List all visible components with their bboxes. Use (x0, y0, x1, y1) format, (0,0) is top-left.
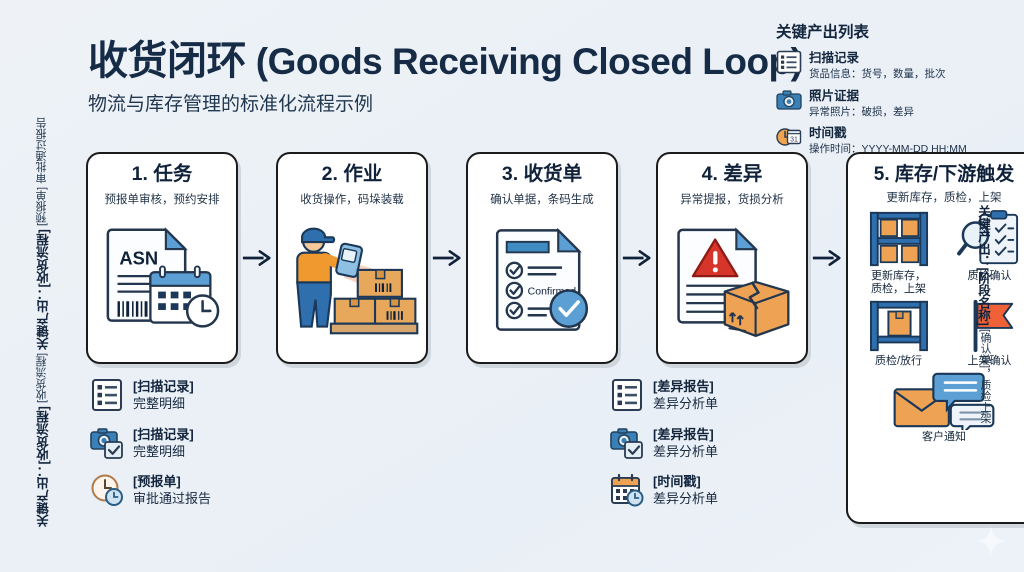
flow-step-title: 5. 库存/下游触发 (874, 164, 1014, 185)
svg-text:31: 31 (790, 137, 798, 144)
output-item-name: [差异报告] (653, 379, 718, 395)
left-rail-top: 关键产出：[收货流程] [预报单] 审批通过报告 (34, 200, 78, 350)
card5-cell-inventory[interactable]: 更新库存，质检，上架 (855, 209, 943, 296)
output-item: [差异报告] 差异分析单 (610, 426, 718, 461)
svg-text:ASN: ASN (119, 248, 158, 269)
card5-cell-qc-release[interactable]: 质检/放行 (855, 298, 943, 368)
flow-step-title: 4. 差异 (702, 164, 763, 186)
left-rail-bottom-sub: [收货流程] (34, 353, 53, 403)
output-item-desc: 差异分析单 (653, 444, 718, 460)
flow-step-title: 1. 任务 (132, 164, 193, 186)
output-item: [时间戳] 差异分析单 (610, 473, 718, 508)
right-rail-title: 关键产出：[阶段名称] (974, 205, 993, 326)
flow-arrow-3 (618, 152, 656, 364)
right-rail-sub: [确认单]，质检上架 (974, 329, 993, 423)
left-rail-bottom: 关键产出：[收货流程] [收货流程] (34, 372, 78, 527)
output-item: [预报单] 审批通过报告 (90, 473, 211, 508)
output-item: [扫描记录] 完整明细 (90, 378, 211, 413)
page-subtitle: 物流与库存管理的标准化流程示例 (88, 89, 768, 116)
clock-icon (90, 473, 124, 507)
output-item-desc: 完整明细 (133, 444, 194, 460)
rack-boxes-icon (865, 209, 933, 269)
output-item-desc: 差异分析单 (653, 396, 718, 412)
checklist-icon (776, 50, 802, 74)
output-item-name: [扫描记录] (133, 427, 194, 443)
rack-single-box-icon (865, 298, 933, 354)
checklist-icon (90, 378, 124, 412)
flow-arrow-1 (238, 152, 276, 364)
warning-document-damaged-box-icon (664, 207, 800, 354)
sparkle-icon (974, 524, 1008, 558)
worker-scanner-pallet-icon (284, 207, 420, 354)
page-title-cn: 收货闭环 (88, 39, 246, 83)
left-rail-top-sub: [预报单] 审批通过报告 (34, 118, 53, 226)
confirmed-checklist-icon: Confirmed (474, 207, 610, 354)
title-block: 收货闭环 (Goods Receiving Closed Loop) 物流与库存… (88, 40, 768, 116)
flow-step-card-3[interactable]: 3. 收货单 确认单据，条码生成 Confirmed (466, 152, 618, 364)
legend-title: 关键产出列表 (776, 20, 1006, 42)
flow-arrow-4 (808, 152, 846, 364)
legend-item-name: 扫描记录 (809, 51, 946, 66)
output-item-desc: 审批通过报告 (133, 491, 211, 507)
card5-cell-label: 更新库存，质检，上架 (871, 270, 926, 296)
output-item: [扫描记录] 完整明细 (90, 426, 211, 461)
flow-step-subtitle: 更新库存，质检，上架 (887, 189, 1002, 205)
camera-icon (776, 88, 802, 112)
legend-panel: 关键产出列表 扫描记录 货品信息：货号，数量，批次 (776, 20, 1006, 163)
legend-item-name: 照片证据 (809, 89, 914, 104)
output-item-desc: 差异分析单 (653, 491, 718, 507)
legend-item-name: 时间戳 (809, 126, 967, 141)
legend-item: 照片证据 异常照片：破损，差异 (776, 88, 1006, 119)
legend-item-desc: 异常照片：破损，差异 (809, 106, 914, 119)
flow-step-title: 2. 作业 (322, 164, 383, 186)
output-item-name: [差异报告] (653, 427, 718, 443)
clock-calendar-icon: 31 (776, 125, 802, 149)
flow-step-subtitle: 确认单据，条码生成 (490, 191, 594, 207)
flow-step-card-2[interactable]: 2. 作业 收货操作，码垛装载 (276, 152, 428, 364)
left-rail-top-title: 关键产出：[收货流程] (34, 229, 53, 350)
flow-step-title: 3. 收货单 (502, 164, 582, 186)
flow-arrow-2 (428, 152, 466, 364)
card5-cell-label: 客户通知 (922, 431, 966, 444)
outputs-middle-list: [差异报告] 差异分析单 [差异报告] 差异分析单 (610, 378, 718, 521)
flow-step-card-1[interactable]: 1. 任务 预报单审核，预约安排 ASN (86, 152, 238, 364)
asn-document-calendar-clock-icon: ASN (94, 207, 230, 354)
legend-item: 扫描记录 货品信息：货号，数量，批次 (776, 50, 1006, 81)
checklist-icon (610, 378, 644, 412)
output-item-name: [时间戳] (653, 474, 718, 490)
page-title-en: (Goods Receiving Closed Loop) (256, 41, 803, 82)
legend-item-desc: 货品信息：货号，数量，批次 (809, 68, 946, 81)
left-rail-bottom-title: 关键产出：[收货流程] (34, 406, 53, 527)
flow-step-card-4[interactable]: 4. 差异 异常提报，货损分析 (656, 152, 808, 364)
output-item-name: [扫描记录] (133, 379, 194, 395)
flow-step-subtitle: 异常提报，货损分析 (680, 191, 784, 207)
process-flow: 1. 任务 预报单审核，预约安排 ASN (86, 152, 1024, 524)
output-item: [差异报告] 差异分析单 (610, 378, 718, 413)
output-item-desc: 完整明细 (133, 396, 194, 412)
camera-check-icon (90, 426, 124, 460)
page-title: 收货闭环 (Goods Receiving Closed Loop) (88, 40, 768, 82)
output-item-name: [预报单] (133, 474, 211, 490)
flow-step-subtitle: 收货操作，码垛装载 (300, 191, 404, 207)
outputs-left-list: [扫描记录] 完整明细 [扫描记录] 完整明细 (90, 378, 211, 521)
right-rail: 关键产出：[阶段名称] [确认单]，质检上架 (974, 205, 1018, 365)
camera-check-icon (610, 426, 644, 460)
calendar-clock-icon (610, 473, 644, 507)
card5-cell-label: 质检/放行 (875, 355, 922, 368)
flow-step-subtitle: 预报单审核，预约安排 (105, 191, 220, 207)
